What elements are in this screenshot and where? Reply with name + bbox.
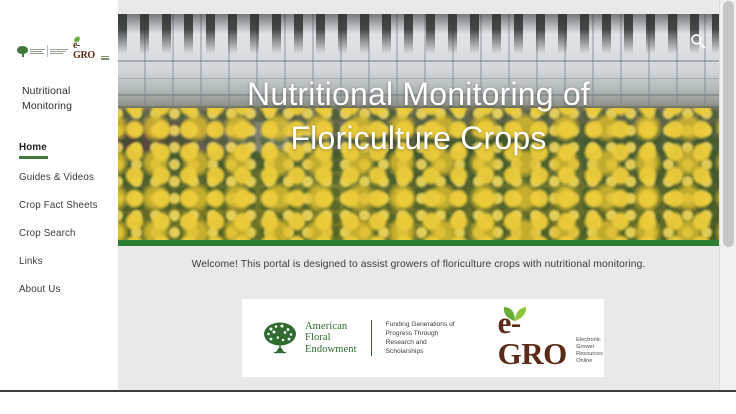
tree-icon — [17, 46, 28, 57]
afe-mini-tagline — [50, 49, 68, 54]
greenhouse-beam — [118, 60, 719, 62]
search-button[interactable] — [687, 30, 709, 52]
sidebar-item-guides-videos[interactable]: Guides & Videos — [19, 172, 114, 183]
sidebar-item-links[interactable]: Links — [19, 256, 114, 267]
afe-name-line-3: Endowment — [305, 344, 357, 355]
sidebar-item-crop-search[interactable]: Crop Search — [19, 228, 114, 239]
sidebar: e-GRO Nutritional Monitoring Home Guides… — [0, 0, 118, 390]
american-floral-endowment-logo[interactable]: American Floral Endowment Funding Genera… — [262, 320, 462, 356]
vertical-scrollbar[interactable] — [719, 0, 736, 390]
egro-wordmark: e-GRO — [498, 307, 574, 369]
afe-mini-wordmark — [30, 49, 45, 54]
e-gro-logo[interactable]: e-GRO Electronic Grower Resources Online — [498, 307, 604, 369]
egro-subtitle-line-4: Online — [576, 358, 592, 364]
hero-title: Nutritional Monitoring of Floriculture C… — [118, 72, 719, 160]
tree-icon — [262, 321, 298, 355]
hero-title-line-1: Nutritional Monitoring of — [247, 76, 590, 112]
browser-page: e-GRO Nutritional Monitoring Home Guides… — [0, 0, 736, 414]
welcome-text: Welcome! This portal is designed to assi… — [118, 259, 719, 270]
egro-subtitle: Electronic Grower Resources Online — [576, 337, 604, 369]
main-content: Nutritional Monitoring of Floriculture C… — [118, 0, 719, 390]
leaf-icon — [502, 296, 528, 312]
hero-accent-bar — [118, 240, 719, 246]
sponsor-panel: American Floral Endowment Funding Genera… — [242, 299, 604, 377]
egro-mini-subtitle — [101, 56, 109, 61]
egro-subtitle-line-2: Grower — [576, 344, 594, 350]
afe-tagline: Funding Generations of Progress Through … — [386, 320, 462, 356]
sidebar-item-crop-fact-sheets[interactable]: Crop Fact Sheets — [19, 200, 114, 211]
sidebar-brand-logos[interactable]: e-GRO — [17, 40, 109, 62]
page-viewport: e-GRO Nutritional Monitoring Home Guides… — [0, 0, 736, 390]
egro-subtitle-line-1: Electronic — [576, 337, 601, 343]
divider — [371, 320, 372, 356]
window-bottom-area — [0, 392, 736, 414]
hanging-baskets — [118, 14, 719, 54]
sidebar-nav: Home Guides & Videos Crop Fact Sheets Cr… — [19, 142, 114, 312]
hero-title-line-2: Floriculture Crops — [290, 120, 546, 156]
sidebar-item-home[interactable]: Home — [19, 142, 114, 153]
divider — [47, 45, 48, 57]
egro-mini-wordmark: e-GRO — [73, 41, 100, 61]
search-icon — [690, 33, 706, 49]
sidebar-item-about-us[interactable]: About Us — [19, 284, 114, 295]
egro-subtitle-line-3: Resources — [576, 351, 603, 357]
site-title: Nutritional Monitoring — [22, 84, 108, 114]
afe-name-line-2: Floral — [305, 332, 331, 343]
egro-mini-logo: e-GRO — [73, 41, 109, 61]
hero-banner: Nutritional Monitoring of Floriculture C… — [118, 14, 719, 246]
vertical-scroll-thumb[interactable] — [723, 1, 734, 247]
afe-mini-logo — [17, 45, 68, 57]
afe-wordmark: American Floral Endowment — [305, 321, 357, 356]
afe-name-line-1: American — [305, 321, 347, 332]
